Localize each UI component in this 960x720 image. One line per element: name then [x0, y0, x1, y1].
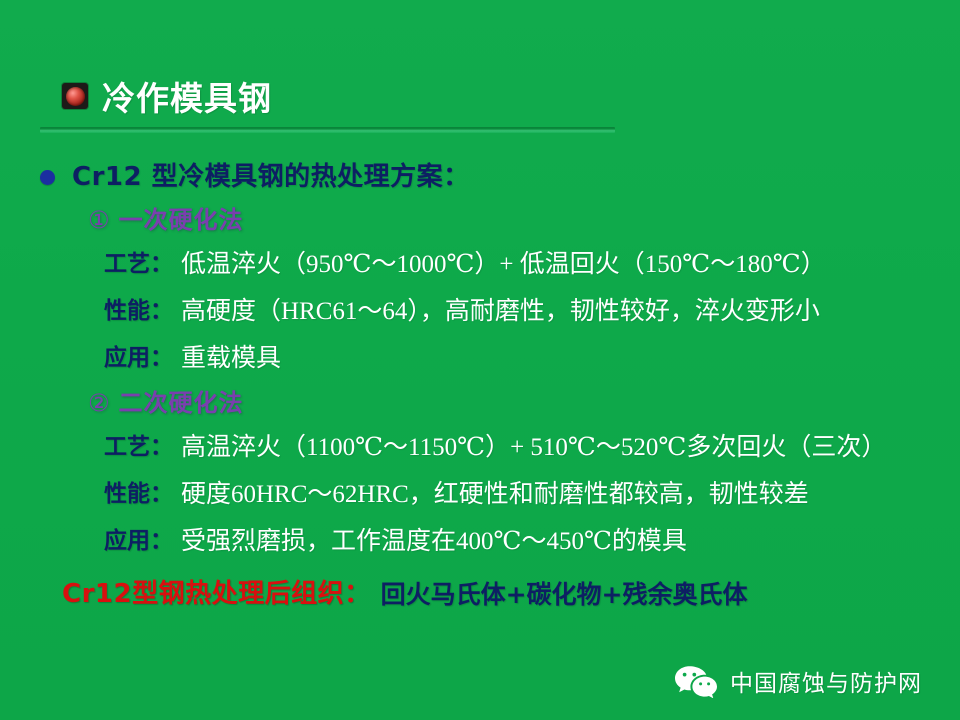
method-heading-2: ② 二次硬化法: [88, 382, 960, 424]
bullet-dot-icon: [40, 170, 55, 185]
row-value: 高温淬火（1100℃～1150℃）+ 510℃～520℃多次回火（三次）: [181, 435, 886, 460]
watermark: 中国腐蚀与防护网: [674, 664, 922, 698]
summary-blue-label: 回火马氏体+碳化物+残余奥氏体: [381, 582, 748, 607]
method-row: 性能： 高硬度（HRC61～64），高耐磨性，韧性较好，淬火变形小: [104, 288, 960, 335]
summary-red-label: Cr12型钢热处理后组织：: [62, 581, 371, 607]
summary-line: Cr12型钢热处理后组织： 回火马氏体+碳化物+残余奥氏体: [62, 572, 960, 616]
row-label: 工艺：: [104, 253, 173, 276]
row-value: 低温淬火（950℃～1000℃）+ 低温回火（150℃～180℃）: [181, 252, 826, 277]
main-bullet: Cr12 型冷模具钢的热处理方案：: [40, 155, 960, 199]
slide-title-row: 冷作模具钢: [62, 72, 272, 120]
method-marker-1: ①: [88, 208, 111, 232]
method-heading-1: ① 一次硬化法: [88, 199, 960, 241]
row-label: 性能：: [104, 483, 173, 506]
row-label: 应用：: [104, 530, 173, 553]
slide-body: Cr12 型冷模具钢的热处理方案： ① 一次硬化法 工艺： 低温淬火（950℃～…: [0, 155, 960, 616]
wechat-icon: [674, 665, 718, 698]
method-row: 性能： 硬度60HRC～62HRC，红硬性和耐磨性都较高，韧性较差: [104, 471, 960, 518]
row-label: 工艺：: [104, 436, 173, 459]
slide-canvas: 冷作模具钢 Cr12 型冷模具钢的热处理方案： ① 一次硬化法 工艺： 低温淬火…: [0, 0, 960, 720]
method-row: 工艺： 高温淬火（1100℃～1150℃）+ 510℃～520℃多次回火（三次）: [104, 424, 960, 471]
row-value: 硬度60HRC～62HRC，红硬性和耐磨性都较高，韧性较差: [181, 482, 809, 507]
red-orb-icon: [62, 83, 88, 109]
row-value: 受强烈磨损，工作温度在400℃～450℃的模具: [181, 529, 687, 554]
row-label: 应用：: [104, 347, 173, 370]
method-marker-2: ②: [88, 391, 111, 415]
title-divider: [40, 127, 615, 133]
method-row: 应用： 重载模具: [104, 335, 960, 382]
row-value: 重载模具: [181, 346, 281, 371]
method-row: 工艺： 低温淬火（950℃～1000℃）+ 低温回火（150℃～180℃）: [104, 241, 960, 288]
method-heading-label-1: 一次硬化法: [119, 208, 244, 232]
row-label: 性能：: [104, 300, 173, 323]
page-title: 冷作模具钢: [102, 72, 272, 120]
row-value: 高硬度（HRC61～64），高耐磨性，韧性较好，淬火变形小: [181, 299, 820, 324]
method-row: 应用： 受强烈磨损，工作温度在400℃～450℃的模具: [104, 518, 960, 565]
watermark-label: 中国腐蚀与防护网: [730, 664, 922, 698]
main-bullet-label: Cr12 型冷模具钢的热处理方案：: [72, 164, 470, 190]
method-heading-label-2: 二次硬化法: [119, 391, 244, 415]
